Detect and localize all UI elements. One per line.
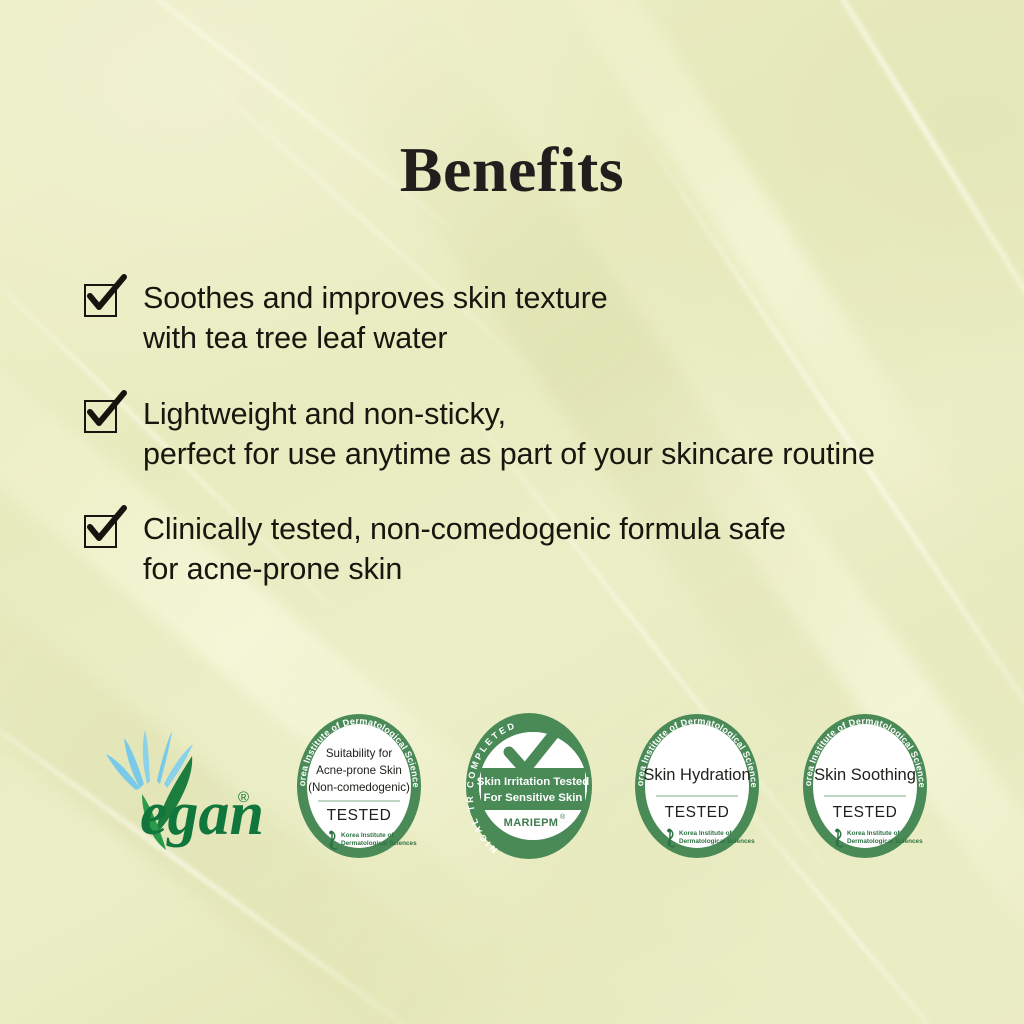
badge-line: Skin Soothing bbox=[814, 766, 916, 784]
badge-result: TESTED bbox=[665, 804, 730, 821]
benefit-text: Soothes and improves skin texture with t… bbox=[143, 278, 608, 359]
badge-skin-soothing: Korea Institute of Dermatological Scienc… bbox=[795, 708, 935, 860]
badge-line: Acne-prone Skin bbox=[316, 764, 402, 777]
certification-row: egan ® Korea Institute of Dermatological… bbox=[0, 702, 1024, 870]
badge-line: Skin Irritation Tested bbox=[477, 776, 589, 788]
benefit-text: Clinically tested, non-comedogenic formu… bbox=[143, 509, 786, 590]
svg-text:Korea Institute of: Korea Institute of bbox=[341, 832, 394, 839]
page-title: Benefits bbox=[0, 133, 1024, 207]
badge-brand: MARIEPM bbox=[504, 817, 559, 829]
badge-skin-irritation: COMPLETED CLINICAL TRIAL Skin Irritation… bbox=[459, 708, 599, 860]
badge-line: Suitability for bbox=[326, 747, 393, 760]
registered-mark: ® bbox=[238, 789, 249, 806]
badge-skin-hydration: Korea Institute of Dermatological Scienc… bbox=[627, 708, 767, 860]
checkbox-checked-icon bbox=[84, 400, 117, 433]
benefit-item: Lightweight and non-sticky, perfect for … bbox=[84, 394, 964, 475]
benefit-item: Clinically tested, non-comedogenic formu… bbox=[84, 509, 964, 590]
svg-text:Dermatological Sciences: Dermatological Sciences bbox=[341, 840, 417, 847]
svg-text:Dermatological Sciences: Dermatological Sciences bbox=[847, 838, 923, 845]
badge-line: (Non-comedogenic) bbox=[308, 781, 410, 794]
badge-line: Skin Hydration bbox=[643, 766, 750, 784]
badge-result: TESTED bbox=[327, 807, 392, 824]
registered-mark: ® bbox=[560, 813, 566, 821]
svg-text:Dermatological Sciences: Dermatological Sciences bbox=[679, 838, 755, 845]
benefits-infographic: Benefits Soothes and improves skin textu… bbox=[0, 0, 1024, 1024]
benefit-item: Soothes and improves skin texture with t… bbox=[84, 278, 964, 359]
benefits-list: Soothes and improves skin texture with t… bbox=[84, 278, 964, 590]
badge-acne-prone: Korea Institute of Dermatological Scienc… bbox=[289, 708, 429, 860]
badge-result: TESTED bbox=[833, 804, 898, 821]
svg-text:Korea Institute of: Korea Institute of bbox=[847, 830, 900, 837]
badge-line: For Sensitive Skin bbox=[484, 792, 583, 804]
benefit-text: Lightweight and non-sticky, perfect for … bbox=[143, 394, 875, 475]
vegan-logo: egan ® bbox=[78, 716, 263, 856]
svg-text:Korea Institute of: Korea Institute of bbox=[679, 830, 732, 837]
checkbox-checked-icon bbox=[84, 284, 117, 317]
checkbox-checked-icon bbox=[84, 515, 117, 548]
